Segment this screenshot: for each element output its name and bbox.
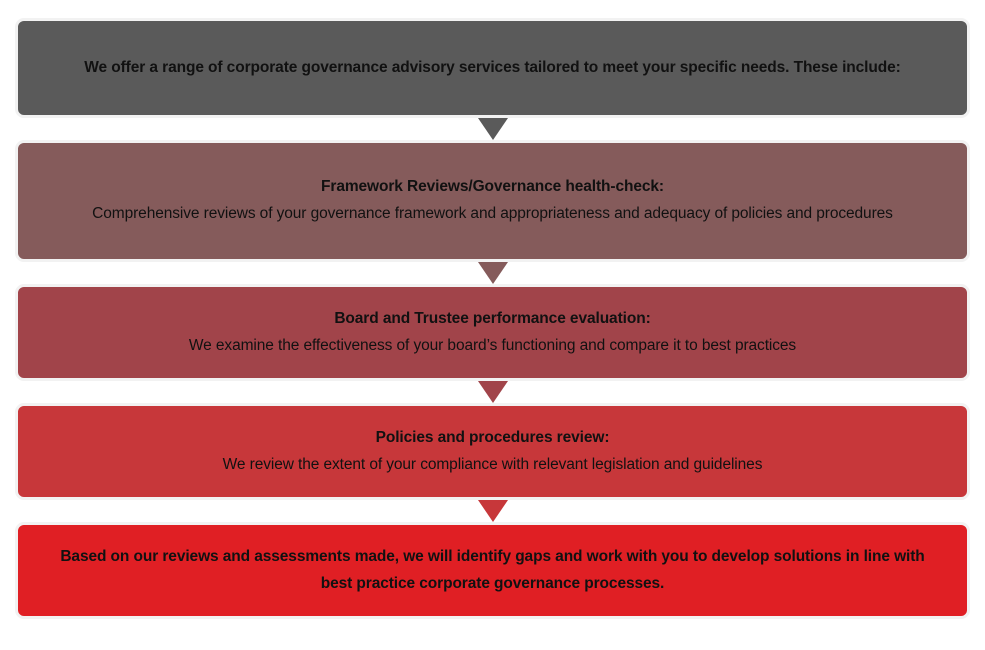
policies-review-node: Policies and procedures review: We revie… bbox=[15, 403, 970, 500]
intro-node-heading: We offer a range of corporate governance… bbox=[84, 55, 900, 82]
arrow-down-icon bbox=[478, 262, 508, 284]
board-evaluation-node-heading: Board and Trustee performance evaluation… bbox=[334, 306, 650, 333]
connector-framework-to-board bbox=[15, 262, 970, 284]
arrow-down-icon bbox=[478, 381, 508, 403]
framework-reviews-node: Framework Reviews/Governance health-chec… bbox=[15, 140, 970, 262]
policies-review-node-heading: Policies and procedures review: bbox=[376, 425, 610, 452]
framework-reviews-node-heading: Framework Reviews/Governance health-chec… bbox=[321, 174, 664, 201]
connector-policies-to-outcome bbox=[15, 500, 970, 522]
framework-reviews-node-body: Comprehensive reviews of your governance… bbox=[92, 201, 893, 228]
intro-node: We offer a range of corporate governance… bbox=[15, 18, 970, 118]
board-evaluation-node: Board and Trustee performance evaluation… bbox=[15, 284, 970, 381]
outcome-node-heading: Based on our reviews and assessments mad… bbox=[52, 544, 933, 597]
arrow-down-icon bbox=[478, 500, 508, 522]
governance-services-flowchart: We offer a range of corporate governance… bbox=[0, 0, 985, 650]
policies-review-node-body: We review the extent of your compliance … bbox=[223, 452, 763, 479]
outcome-node: Based on our reviews and assessments mad… bbox=[15, 522, 970, 619]
board-evaluation-node-body: We examine the effectiveness of your boa… bbox=[189, 333, 796, 360]
connector-intro-to-framework bbox=[15, 118, 970, 140]
arrow-down-icon bbox=[478, 118, 508, 140]
connector-board-to-policies bbox=[15, 381, 970, 403]
